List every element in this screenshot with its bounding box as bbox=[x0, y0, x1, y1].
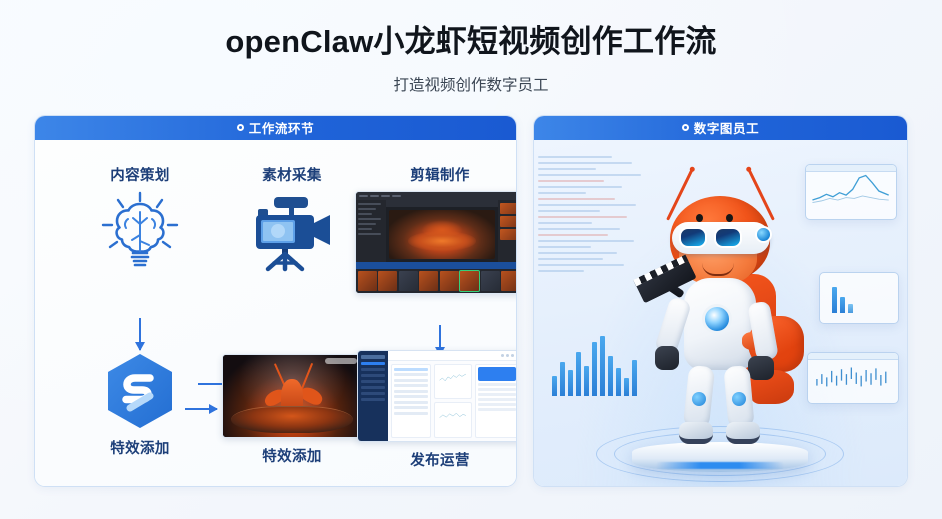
line-chart-svg bbox=[810, 173, 892, 206]
workflow-panel-header: 工作流环节 bbox=[35, 116, 516, 140]
editor-clip[interactable] bbox=[440, 271, 459, 291]
dashboard-main bbox=[388, 351, 517, 441]
dashboard-nav-item-active[interactable] bbox=[361, 362, 385, 365]
editor-thumbnail bbox=[500, 203, 517, 214]
dashboard-nav-item[interactable] bbox=[361, 368, 385, 371]
vr-goggles-lens-right bbox=[714, 227, 742, 248]
dashboard-stat-row bbox=[478, 403, 516, 406]
editor-timeline-ruler[interactable] bbox=[356, 262, 517, 269]
line-chart-card bbox=[805, 164, 897, 220]
workflow-step-effects-preview[interactable]: 特效添加 bbox=[222, 354, 362, 466]
digital-employee-panel-header: 数字图员工 bbox=[534, 116, 907, 140]
page-header: openClaw小龙虾短视频创作工作流 打造视频创作数字员工 bbox=[0, 0, 942, 95]
editor-top-bar bbox=[356, 192, 517, 200]
editor-asset-row bbox=[358, 223, 376, 226]
arrow-step1-step4 bbox=[139, 318, 141, 350]
hexagon-s-logo-icon bbox=[77, 352, 203, 430]
dashboard-brand bbox=[361, 355, 385, 359]
robot-knee-right bbox=[732, 392, 746, 406]
lobster-eye-right bbox=[726, 214, 733, 222]
robot-glove-right bbox=[748, 356, 774, 380]
dashboard-list-item[interactable] bbox=[394, 401, 428, 404]
editor-asset-row bbox=[358, 233, 381, 236]
dashboard-list-item[interactable] bbox=[394, 395, 428, 398]
editor-menu-item bbox=[392, 195, 401, 197]
dashboard-list-item-selected[interactable] bbox=[394, 368, 428, 371]
bar-chart-card bbox=[819, 272, 899, 324]
robot-chest-core bbox=[702, 304, 732, 334]
vr-goggles-lens-left bbox=[679, 227, 707, 248]
editor-preview-crayfish-frame bbox=[389, 210, 495, 259]
chart-card-header bbox=[806, 165, 896, 172]
workflow-step-content-planning[interactable]: 内容策划 bbox=[77, 164, 203, 273]
workflow-step-publishing[interactable]: 发布运营 bbox=[357, 350, 517, 470]
dashboard-nav-item[interactable] bbox=[361, 392, 385, 395]
editor-asset-row bbox=[358, 218, 381, 221]
candlestick-chart-card bbox=[807, 352, 899, 404]
editor-main bbox=[356, 200, 517, 262]
dish-plate bbox=[231, 406, 352, 434]
dashboard-line-chart-1 bbox=[434, 364, 472, 400]
circle-dot-icon bbox=[237, 124, 244, 131]
dashboard-sidebar[interactable] bbox=[358, 351, 388, 441]
workflow-step-label: 发布运营 bbox=[357, 449, 517, 470]
vr-goggles-side-pod bbox=[755, 226, 772, 243]
editor-clip[interactable] bbox=[358, 271, 377, 291]
circle-dot-icon bbox=[682, 124, 689, 131]
dashboard-columns bbox=[388, 361, 517, 441]
editor-preview-panel bbox=[386, 200, 498, 262]
page-title: openClaw小龙虾短视频创作工作流 bbox=[0, 24, 942, 60]
workflow-step-label: 剪辑制作 bbox=[355, 164, 517, 185]
dashboard-nav-item[interactable] bbox=[361, 398, 385, 401]
robot-glove-left bbox=[655, 346, 679, 370]
workflow-step-label: 特效添加 bbox=[222, 445, 362, 466]
robot-boot-left bbox=[679, 422, 713, 444]
workflow-step-effects-logo[interactable]: 特效添加 bbox=[77, 352, 203, 458]
dashboard-stat-row bbox=[478, 388, 516, 391]
editor-menu-item bbox=[381, 195, 390, 197]
dashboard-nav-item[interactable] bbox=[361, 386, 385, 389]
bar-chart-bars bbox=[832, 283, 853, 313]
editor-thumbnail bbox=[500, 216, 517, 227]
dashboard-list-item[interactable] bbox=[394, 379, 428, 382]
dashboard-stat-row bbox=[478, 383, 516, 386]
video-editor-screenshot[interactable] bbox=[355, 191, 517, 294]
podium-glow-strip bbox=[656, 462, 784, 469]
editor-thumbnail bbox=[500, 229, 517, 240]
panels-container: 工作流环节 内容策划 bbox=[0, 115, 942, 487]
dashboard-list-item[interactable] bbox=[394, 373, 428, 376]
dashboard-stat-row bbox=[478, 398, 516, 401]
editor-clip[interactable] bbox=[399, 271, 418, 291]
lobster-eye-left bbox=[696, 214, 703, 222]
dashboard-toolbar-icon[interactable] bbox=[506, 354, 509, 357]
dashboard-list-item[interactable] bbox=[394, 384, 428, 387]
workflow-step-material-capture[interactable]: 素材采集 bbox=[229, 164, 355, 273]
robot-boot-right bbox=[726, 422, 760, 444]
candlestick-svg bbox=[812, 361, 894, 389]
digital-employee-panel-title: 数字图员工 bbox=[694, 118, 760, 137]
dashboard-line-chart-2 bbox=[434, 402, 472, 438]
editor-asset-row bbox=[358, 228, 372, 231]
dashboard-avatar[interactable] bbox=[516, 354, 517, 357]
dashboard-nav-item[interactable] bbox=[361, 380, 385, 383]
dashboard-highlight-banner bbox=[478, 367, 516, 381]
editor-preview-toolbar bbox=[386, 200, 498, 207]
workflow-step-label: 内容策划 bbox=[77, 164, 203, 185]
editor-menu-item bbox=[359, 195, 368, 197]
robot-knee-left bbox=[692, 392, 706, 406]
dashboard-toolbar bbox=[388, 351, 517, 361]
editor-clip[interactable] bbox=[419, 271, 438, 291]
brain-bulb-icon bbox=[77, 191, 203, 273]
dashboard-nav-item[interactable] bbox=[361, 374, 385, 377]
dashboard-list[interactable] bbox=[391, 364, 431, 438]
editor-asset-row bbox=[358, 208, 376, 211]
editor-clip[interactable] bbox=[501, 271, 517, 291]
crayfish-dish-photo[interactable] bbox=[222, 354, 362, 438]
editor-clip-selected[interactable] bbox=[460, 271, 479, 291]
lobster-robot-mascot bbox=[622, 170, 818, 452]
dashboard-toolbar-icon[interactable] bbox=[511, 354, 514, 357]
editor-clip[interactable] bbox=[378, 271, 397, 291]
editor-asset-row bbox=[358, 213, 372, 216]
editor-project-panel bbox=[356, 200, 386, 262]
dashboard-charts bbox=[434, 364, 472, 438]
editor-timeline[interactable] bbox=[356, 269, 517, 293]
dashboard-list-item[interactable] bbox=[394, 406, 428, 409]
chart-card-header bbox=[808, 353, 898, 360]
workflow-step-editing[interactable]: 剪辑制作 bbox=[355, 164, 517, 294]
dashboard-toolbar-icon[interactable] bbox=[501, 354, 504, 357]
digital-employee-panel: 数字图员工 bbox=[533, 115, 908, 487]
workflow-step-label: 特效添加 bbox=[77, 437, 203, 458]
editor-effects-panel bbox=[498, 200, 517, 262]
dashboard-stat-row bbox=[478, 408, 516, 411]
digital-employee-hero bbox=[534, 140, 907, 487]
editor-clip[interactable] bbox=[481, 271, 500, 291]
dashboard-list-item[interactable] bbox=[394, 412, 428, 415]
editor-menu-item bbox=[370, 195, 379, 197]
dashboard-side-card bbox=[475, 364, 517, 438]
photo-watermark bbox=[325, 358, 357, 364]
editor-asset-row bbox=[358, 203, 381, 206]
workflow-step-label: 素材采集 bbox=[229, 164, 355, 185]
analytics-dashboard-screenshot[interactable] bbox=[357, 350, 517, 442]
page-subtitle: 打造视频创作数字员工 bbox=[0, 73, 942, 95]
dashboard-list-item[interactable] bbox=[394, 390, 428, 393]
dashboard-stat-row bbox=[478, 393, 516, 396]
workflow-body: 内容策划 bbox=[35, 140, 516, 487]
video-camera-icon bbox=[229, 191, 355, 273]
workflow-panel: 工作流环节 内容策划 bbox=[34, 115, 517, 487]
workflow-panel-title: 工作流环节 bbox=[249, 118, 315, 137]
crayfish-dish-image bbox=[223, 355, 361, 437]
